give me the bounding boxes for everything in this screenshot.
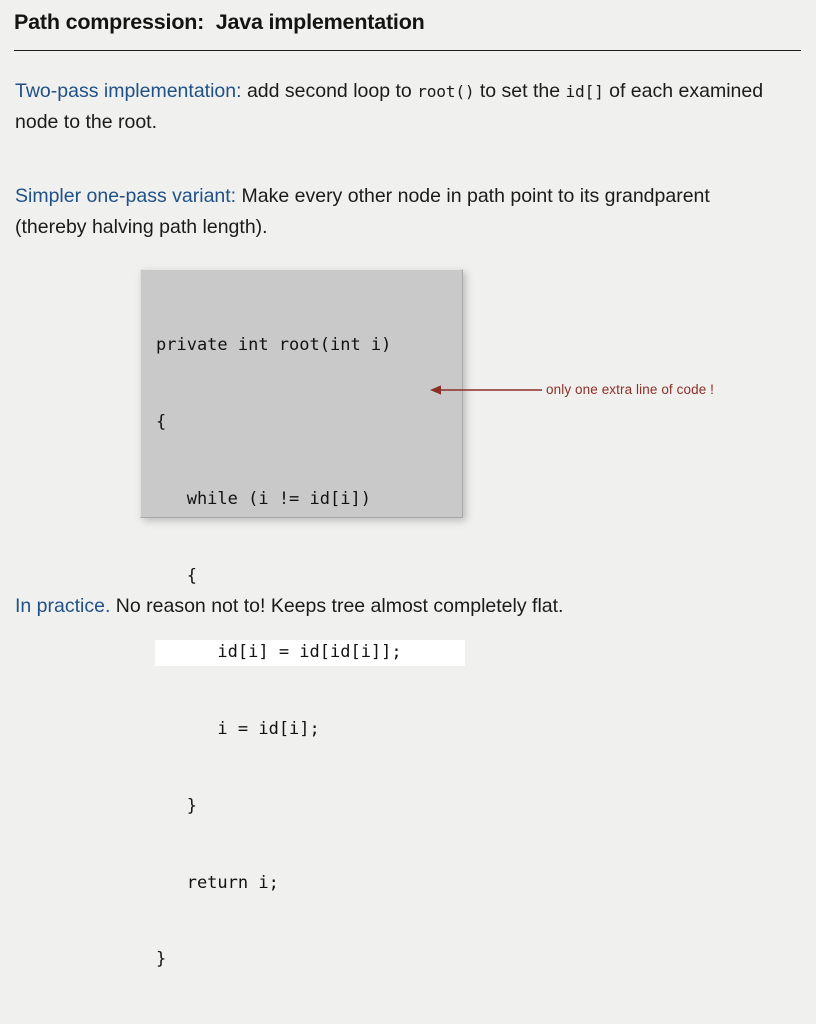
paragraph-text: No reason not to! Keeps tree almost comp… bbox=[110, 595, 563, 617]
paragraph-lead-two-pass: Two-pass implementation: bbox=[15, 80, 242, 102]
paragraph-two-pass: Two-pass implementation: add second loop… bbox=[15, 76, 775, 138]
page-title: Path compression: Java implementation bbox=[14, 10, 425, 35]
code-line-highlighted: id[i] = id[id[i]]; bbox=[155, 640, 465, 666]
paragraph-one-pass: Simpler one-pass variant: Make every oth… bbox=[15, 181, 775, 243]
paragraph-lead-in-practice: In practice. bbox=[15, 595, 110, 617]
paragraph-text: add second loop to bbox=[242, 80, 418, 102]
paragraph-in-practice: In practice. No reason not to! Keeps tre… bbox=[15, 591, 795, 622]
code-block: private int root(int i) { while (i != id… bbox=[140, 269, 463, 518]
title-divider bbox=[14, 50, 801, 51]
code-line: private int root(int i) bbox=[140, 333, 463, 359]
callout-arrow-icon bbox=[428, 383, 542, 397]
callout-label: only one extra line of code ! bbox=[546, 382, 714, 397]
code-line: while (i != id[i]) bbox=[140, 487, 463, 513]
code-line: return i; bbox=[140, 871, 463, 897]
paragraph-lead-one-pass: Simpler one-pass variant: bbox=[15, 185, 236, 207]
code-line: { bbox=[140, 564, 463, 590]
code-line: i = id[i]; bbox=[140, 717, 463, 743]
code-lines: private int root(int i) { while (i != id… bbox=[140, 282, 463, 1024]
code-line: } bbox=[140, 947, 463, 973]
paragraph-text: to set the bbox=[474, 80, 565, 102]
slide-canvas: { "slide": { "title": "Path compression:… bbox=[0, 0, 816, 631]
inline-code-root: root() bbox=[417, 82, 474, 101]
inline-code-id-array: id[] bbox=[566, 82, 604, 101]
code-line: { bbox=[140, 410, 463, 436]
code-line: } bbox=[140, 794, 463, 820]
